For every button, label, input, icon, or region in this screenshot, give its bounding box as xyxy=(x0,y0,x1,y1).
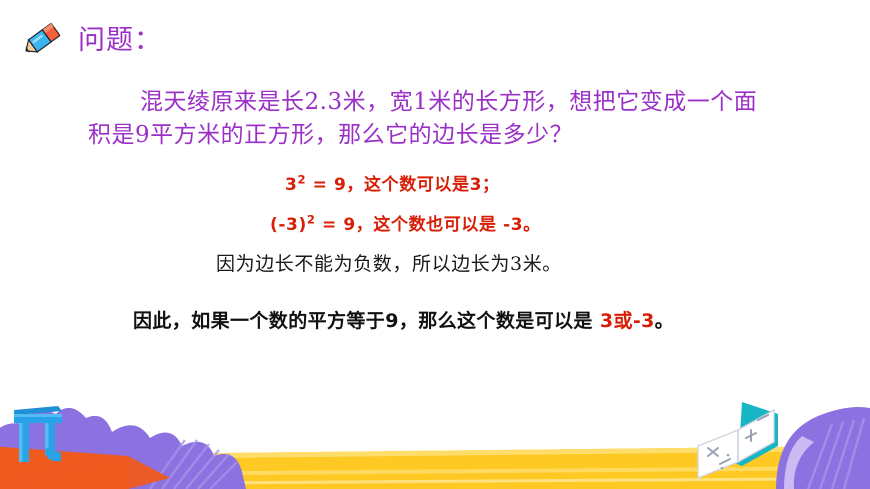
pi-symbol-icon xyxy=(14,406,62,462)
conclusion-suffix: 。 xyxy=(655,310,674,332)
slide-header: 问题： xyxy=(18,20,162,60)
page-title: 问题： xyxy=(78,27,162,54)
slide-canvas: 问题： 混天绫原来是长2.3米，宽1米的长方形，想把它变成一个面积是9平方米的正… xyxy=(0,0,870,489)
right-shapes-decoration xyxy=(680,394,870,489)
bottom-decoration xyxy=(0,394,870,489)
reason-text: 因为边长不能为负数，所以边长为3米。 xyxy=(216,249,562,276)
purple-cloud-shape xyxy=(0,408,246,489)
conclusion-prefix: 因此，如果一个数的平方等于9，那么这个数是可以是 xyxy=(133,310,600,332)
conclusion-text: 因此，如果一个数的平方等于9，那么这个数是可以是 3或-3。 xyxy=(133,306,674,333)
orange-triangle-shape xyxy=(0,446,170,489)
equation-line-1: 32 = 9，这个数可以是3； xyxy=(285,170,500,195)
equation-line-2: (-3)2 = 9，这个数也可以是 -3。 xyxy=(270,210,541,235)
purple-swoosh-shape xyxy=(776,407,870,489)
equation-1-rest: = 9，这个数可以是3； xyxy=(306,175,500,195)
yellow-band-decoration xyxy=(0,394,870,489)
pencil-icon xyxy=(18,20,64,60)
equation-2-base: (-3) xyxy=(270,215,307,235)
equation-1-base: 3 xyxy=(285,175,297,195)
equation-1-exponent: 2 xyxy=(297,172,306,186)
question-text: 混天绫原来是长2.3米，宽1米的长方形，想把它变成一个面积是9平方米的正方形，那… xyxy=(88,86,778,151)
conclusion-highlight: 3或-3 xyxy=(600,310,655,332)
equation-2-rest: = 9，这个数也可以是 -3。 xyxy=(315,215,540,235)
open-book-icon xyxy=(698,402,778,478)
left-shapes-decoration xyxy=(0,394,380,489)
